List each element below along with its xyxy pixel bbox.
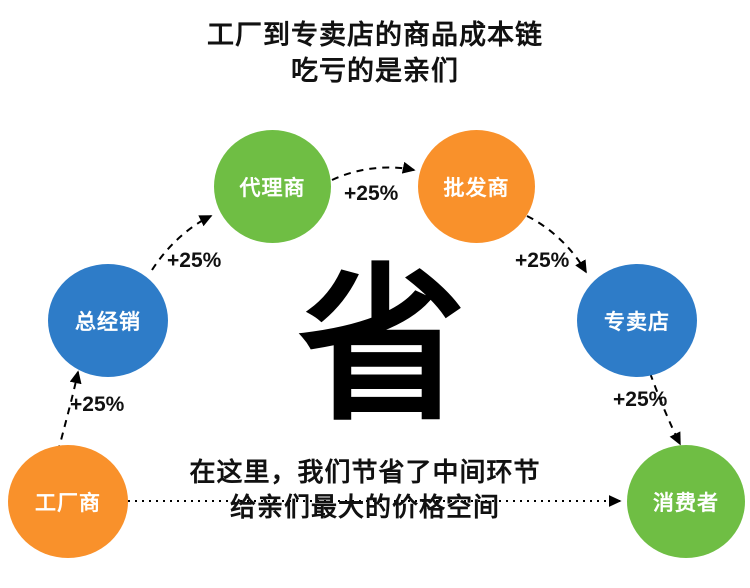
node-wholesaler-label: 批发商 [444, 172, 510, 202]
arrow-agent-to-wholesaler [332, 167, 414, 180]
markup-label-wholesaler-to-store: +25% [515, 249, 569, 273]
node-agent-label: 代理商 [240, 172, 306, 202]
slogan-line-2: 给亲们最大的价格空间 [150, 490, 580, 525]
node-general-distributor[interactable]: 总经销 [48, 264, 168, 377]
node-factory-label: 工厂商 [35, 487, 101, 517]
infographic-canvas: 工厂到专卖店的商品成本链 吃亏的是亲们 工厂商 总经销 代理商 批发商 专卖店 … [0, 0, 750, 588]
node-exclusive-store[interactable]: 专卖店 [577, 264, 697, 377]
page-title: 工厂到专卖店的商品成本链 吃亏的是亲们 [0, 18, 750, 89]
node-wholesaler[interactable]: 批发商 [418, 130, 535, 243]
markup-label-store-to-consumer: +25% [613, 388, 667, 412]
markup-label-distributor-to-agent: +25% [167, 249, 221, 273]
node-factory[interactable]: 工厂商 [8, 445, 128, 558]
title-line-2: 吃亏的是亲们 [0, 54, 750, 90]
shortcut-slogan: 在这里，我们节省了中间环节 给亲们最大的价格空间 [150, 455, 580, 526]
node-consumer-label: 消费者 [653, 487, 719, 517]
slogan-line-1: 在这里，我们节省了中间环节 [150, 455, 580, 490]
node-consumer[interactable]: 消费者 [627, 445, 745, 558]
node-exclusive-store-label: 专卖店 [604, 306, 670, 336]
markup-label-factory-to-distributor: +25% [70, 393, 124, 417]
node-general-distributor-label: 总经销 [75, 306, 141, 336]
markup-label-agent-to-wholesaler: +25% [344, 182, 398, 206]
node-agent[interactable]: 代理商 [214, 130, 331, 243]
center-save-character: 省 [292, 262, 472, 430]
title-line-1: 工厂到专卖店的商品成本链 [0, 18, 750, 54]
